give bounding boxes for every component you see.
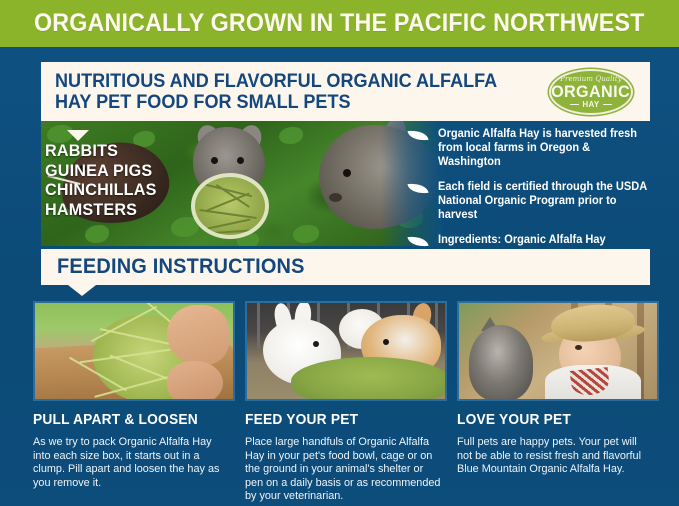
bullet-item: Each field is certified through the USDA… <box>408 180 656 222</box>
step-title: FEED YOUR PET <box>245 412 437 428</box>
feature-bullet-list: Organic Alfalfa Hay is harvested fresh f… <box>408 127 656 258</box>
feeding-steps-row: PULL APART & LOOSEN As we try to pack Or… <box>33 301 659 504</box>
bullet-text: Organic Alfalfa Hay is harvested fresh f… <box>438 127 647 169</box>
badge-sub-row: HAY <box>570 101 611 109</box>
top-tagline-bar: ORGANICALLY GROWN IN THE PACIFIC NORTHWE… <box>0 0 679 47</box>
pet-list-item: HAMSTERS <box>45 200 157 220</box>
pet-list-item: RABBITS <box>45 141 157 161</box>
product-info-poster: ORGANICALLY GROWN IN THE PACIFIC NORTHWE… <box>0 0 679 506</box>
feeding-step-card: LOVE YOUR PET Full pets are happy pets. … <box>457 301 659 504</box>
feeding-step-card: PULL APART & LOOSEN As we try to pack Or… <box>33 301 235 504</box>
chinchilla-eye-left <box>211 157 218 164</box>
badge-dash-right-icon <box>603 104 612 106</box>
step-photo-pull-apart <box>33 301 235 401</box>
hay-bowl <box>191 173 269 239</box>
step-photo-feed-your-pet <box>245 301 447 401</box>
pet-list-item: GUINEA PIGS <box>45 161 157 181</box>
step-title: LOVE YOUR PET <box>457 412 649 428</box>
hay-pile <box>291 357 447 401</box>
tagline-text: ORGANICALLY GROWN IN THE PACIFIC NORTHWE… <box>34 9 645 38</box>
feeding-step-card: FEED YOUR PET Place large handfuls of Or… <box>245 301 447 504</box>
bullet-text: Each field is certified through the USDA… <box>438 180 647 222</box>
pet-type-list: RABBITS GUINEA PIGS CHINCHILLAS HAMSTERS <box>45 141 162 219</box>
step-body-text: Full pets are happy pets. Your pet will … <box>457 436 653 477</box>
leaf-bullet-icon <box>408 130 428 141</box>
bullet-item: Ingredients: Organic Alfalfa Hay <box>408 233 656 247</box>
step-body-text: As we try to pack Organic Alfalfa Hay in… <box>33 436 229 490</box>
badge-main-text: ORGANIC <box>552 83 631 100</box>
feeding-instructions-title: FEEDING INSTRUCTIONS <box>57 255 305 279</box>
white-rabbit-eye <box>313 341 319 347</box>
brown-rabbit-eye <box>383 339 389 345</box>
badge-dash-left-icon <box>570 104 579 106</box>
leaf-bullet-icon <box>408 236 428 247</box>
banner-notch-icon <box>68 285 96 296</box>
pointer-arrow-icon <box>67 130 89 141</box>
hand-upper <box>167 305 229 365</box>
step-body-text: Place large handfuls of Organic Alfalfa … <box>245 436 441 504</box>
headline-banner: NUTRITIOUS AND FLAVORFUL ORGANIC ALFALFA… <box>41 62 650 121</box>
bullet-item: Organic Alfalfa Hay is harvested fresh f… <box>408 127 656 169</box>
step-photo-love-your-pet <box>457 301 659 401</box>
leaf-bullet-icon <box>408 183 428 194</box>
chinchilla-eye-right <box>237 157 244 164</box>
step-title: PULL APART & LOOSEN <box>33 412 225 428</box>
badge-sub-text: HAY <box>582 101 599 109</box>
feeding-instructions-banner: FEEDING INSTRUCTIONS <box>41 249 650 285</box>
rabbit-nose <box>329 193 342 202</box>
pet-list-item: CHINCHILLAS <box>45 180 157 200</box>
rabbit-eye <box>343 169 351 177</box>
child-eye <box>575 345 582 350</box>
cat-subject <box>469 325 533 401</box>
headline-title: NUTRITIOUS AND FLAVORFUL ORGANIC ALFALFA… <box>55 71 511 113</box>
hand-lower <box>167 361 223 401</box>
organic-hay-badge: Premium Quality ORGANIC HAY <box>549 69 633 115</box>
bullet-text: Ingredients: Organic Alfalfa Hay <box>438 233 606 247</box>
